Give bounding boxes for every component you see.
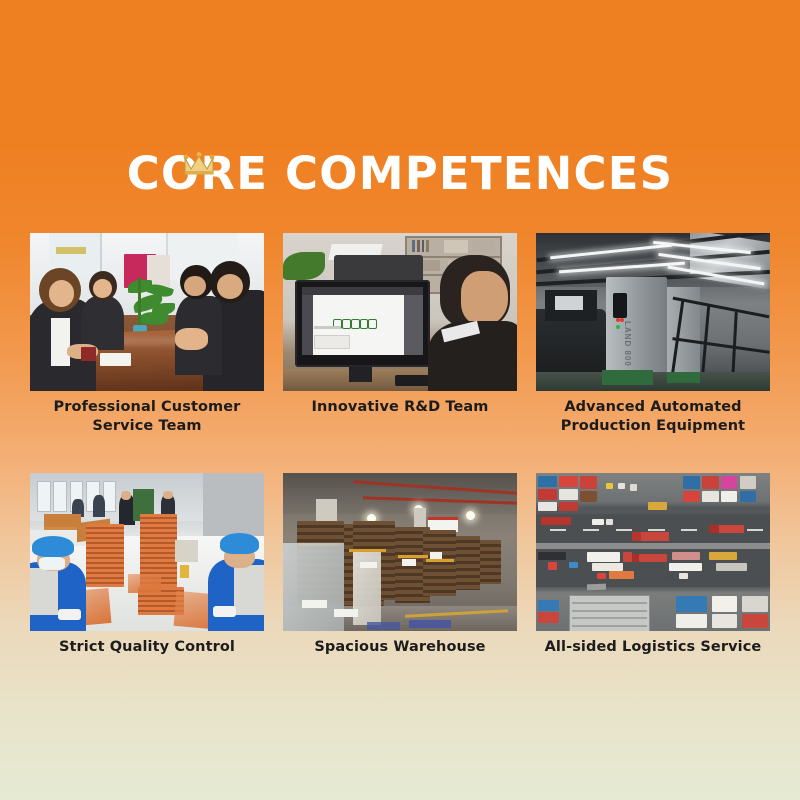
card-caption-logistics-service: All-sided Logistics Service — [536, 638, 770, 657]
card-customer-service[interactable]: Professional Customer Service Team — [30, 233, 264, 436]
page-title: CORE COMPETENCES — [127, 150, 674, 197]
card-caption-quality-control: Strict Quality Control — [30, 638, 264, 657]
card-caption-warehouse: Spacious Warehouse — [283, 638, 517, 657]
card-quality-control[interactable]: Strict Quality Control — [30, 473, 264, 657]
card-caption-customer-service: Professional Customer Service Team — [30, 398, 264, 436]
card-image-warehouse — [283, 473, 517, 631]
card-rd-team[interactable]: Innovative R&D Team — [283, 233, 517, 436]
card-image-rd-team — [283, 233, 517, 391]
title-block: CORE COMPETENCES — [0, 150, 800, 197]
card-caption-rd-team: Innovative R&D Team — [283, 398, 517, 417]
card-caption-production-equipment: Advanced Automated Production Equipment — [536, 398, 770, 436]
competence-grid: Professional Customer Service Team — [30, 233, 771, 657]
card-warehouse[interactable]: Spacious Warehouse — [283, 473, 517, 657]
core-competences-poster: CORE COMPETENCES — [0, 0, 800, 800]
card-logistics-service[interactable]: All-sided Logistics Service — [536, 473, 770, 657]
card-image-production-equipment: LAND 800 — [536, 233, 770, 391]
card-production-equipment[interactable]: LAND 800 Advanced Automated Production E… — [536, 233, 770, 436]
card-image-logistics-service — [536, 473, 770, 631]
card-image-quality-control — [30, 473, 264, 631]
card-image-customer-service — [30, 233, 264, 391]
